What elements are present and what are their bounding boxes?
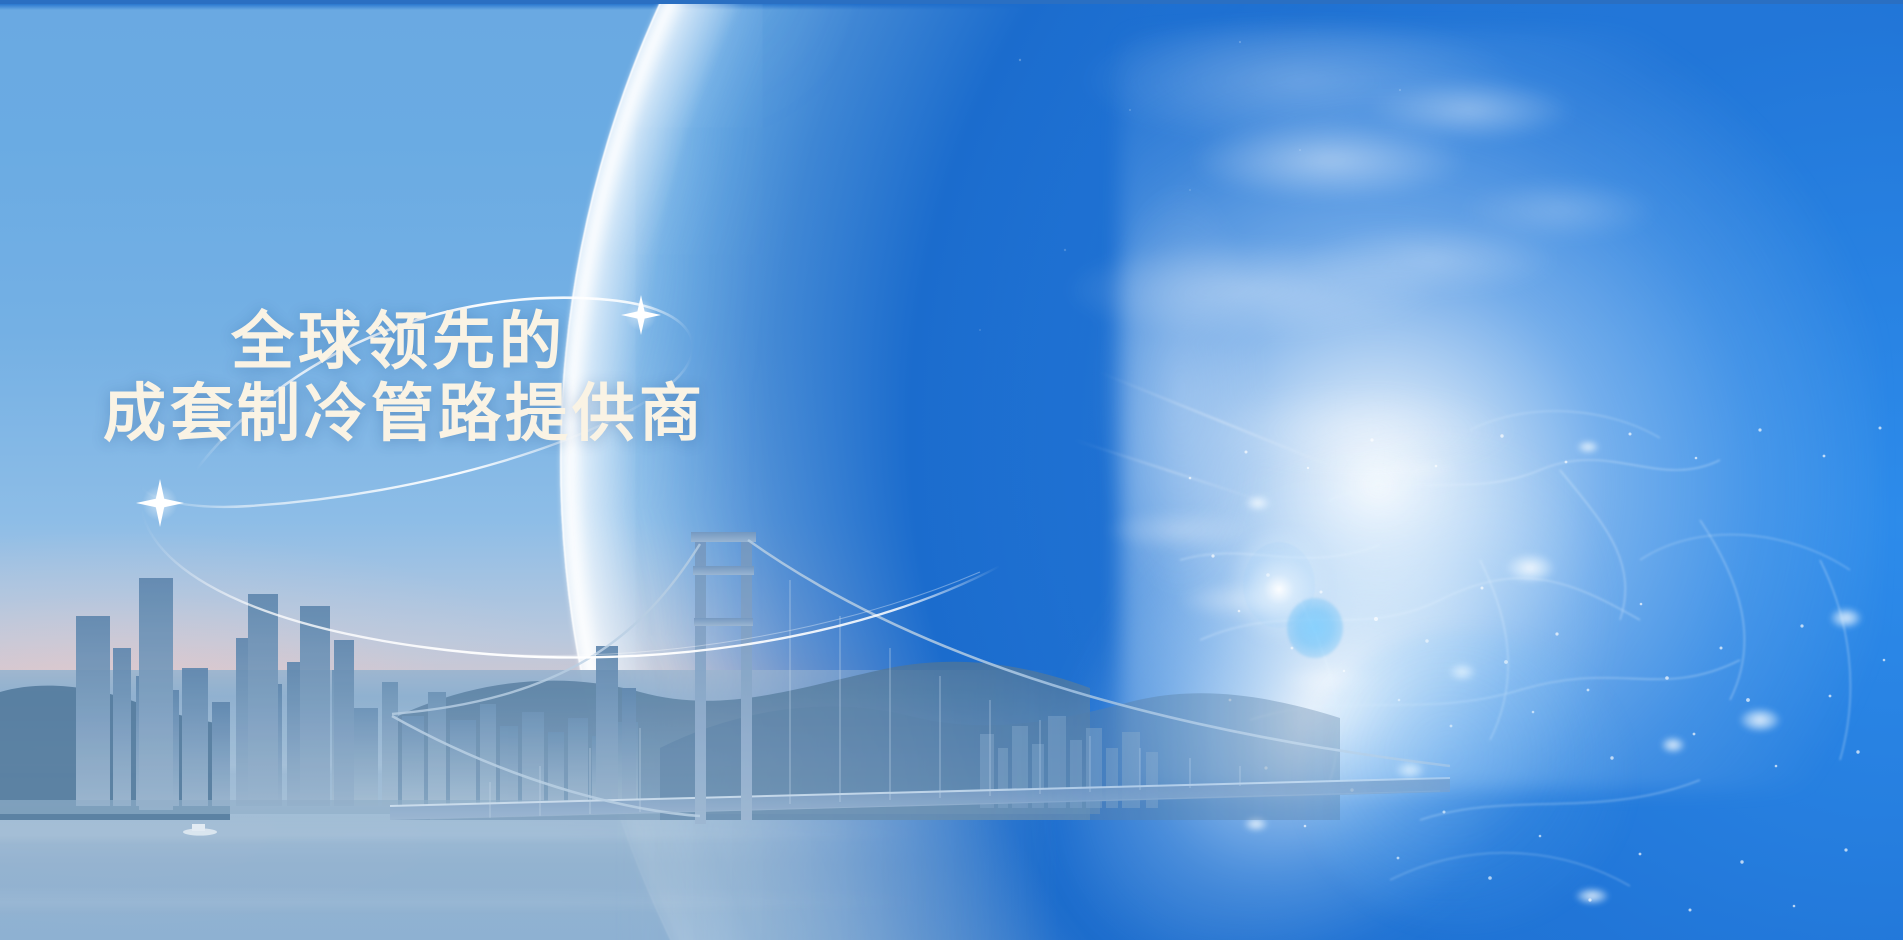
hero-banner: 全球领先的 成套制冷管路提供商 bbox=[0, 0, 1903, 940]
swoosh-arc bbox=[0, 0, 1903, 940]
headline-line-2: 成套制冷管路提供商 bbox=[103, 378, 863, 450]
headline-line-1: 全球领先的 bbox=[231, 306, 863, 378]
headline-block: 全球领先的 成套制冷管路提供商 bbox=[103, 306, 863, 450]
top-accent-band bbox=[0, 0, 1903, 4]
